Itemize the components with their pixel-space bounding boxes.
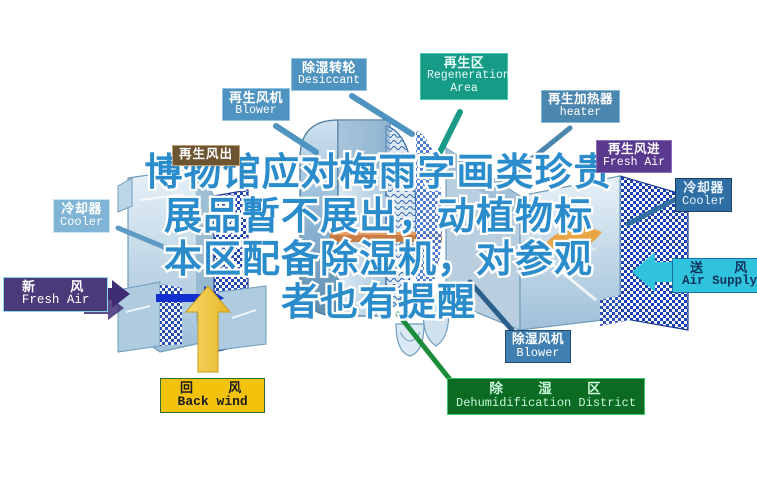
label-cooler-left: 冷却器 Cooler xyxy=(53,199,110,233)
label-desiccant-en: Desiccant xyxy=(298,75,360,87)
label-regeneration-heater: 再生加热器 heater xyxy=(541,90,620,123)
label-desiccant-rotor: 除湿转轮 Desiccant xyxy=(291,58,367,91)
dehumidifier-schematic-image: 博物馆应对梅雨字画类珍贵 展品暫不展出，动植物标 本区配备除湿机，对参观 者也有… xyxy=(0,0,757,488)
label-regeneration-air-inlet: 再生风进 Fresh Air xyxy=(596,140,672,173)
label-back-wind-cn: 回 风 xyxy=(168,381,257,395)
label-fresh-air-cn: 新 风 xyxy=(12,280,99,294)
label-fresh-air: 新 风 Fresh Air xyxy=(3,277,108,312)
label-cooler-left-en: Cooler xyxy=(60,216,103,229)
label-desiccant-cn: 除湿转轮 xyxy=(298,61,360,75)
label-air-supply: 送 风 Air Supply xyxy=(672,258,757,293)
label-cooler-right-cn: 冷却器 xyxy=(682,181,725,195)
label-regen-in-en: Fresh Air xyxy=(603,157,665,169)
label-heater-cn: 再生加热器 xyxy=(548,93,613,107)
label-dehumidification-blower: 除湿风机 Blower xyxy=(505,330,571,363)
label-dehumidification-district: 除 湿 区 Dehumidification District xyxy=(447,378,645,415)
label-cooler-right-en: Cooler xyxy=(682,195,725,208)
right-condensate-drain xyxy=(423,300,449,346)
label-cooler-left-cn: 冷却器 xyxy=(60,202,103,216)
label-regen-in-cn: 再生风进 xyxy=(603,143,665,157)
label-regen-area-en: Regeneration Area xyxy=(427,70,501,96)
label-dehum-blower-cn: 除湿风机 xyxy=(512,333,564,347)
label-fresh-air-en: Fresh Air xyxy=(12,294,99,308)
regeneration-sector xyxy=(338,120,390,176)
label-regen-blower-cn: 再生风机 xyxy=(229,91,283,105)
label-air-supply-cn: 送 风 xyxy=(678,261,757,275)
label-cooler-right: 冷却器 Cooler xyxy=(675,178,732,212)
label-regen-blower-en: Blower xyxy=(229,105,283,117)
process-air-section xyxy=(446,148,688,330)
label-regeneration-air-outlet: 再生风出 xyxy=(172,145,240,166)
label-dehum-blower-en: Blower xyxy=(512,347,564,360)
label-dehum-district-en: Dehumidification District xyxy=(456,397,636,411)
label-back-wind-en: Back wind xyxy=(168,395,257,409)
label-regeneration-area: 再生区 Regeneration Area xyxy=(420,53,508,100)
label-regen-area-cn: 再生区 xyxy=(427,56,501,70)
label-back-wind: 回 风 Back wind xyxy=(160,378,265,413)
label-air-supply-en: Air Supply xyxy=(678,275,757,289)
label-dehum-district-cn: 除 湿 区 xyxy=(456,382,636,397)
label-heater-en: heater xyxy=(548,107,613,119)
label-regen-out-cn: 再生风出 xyxy=(179,148,233,162)
label-regeneration-blower: 再生风机 Blower xyxy=(222,88,290,121)
